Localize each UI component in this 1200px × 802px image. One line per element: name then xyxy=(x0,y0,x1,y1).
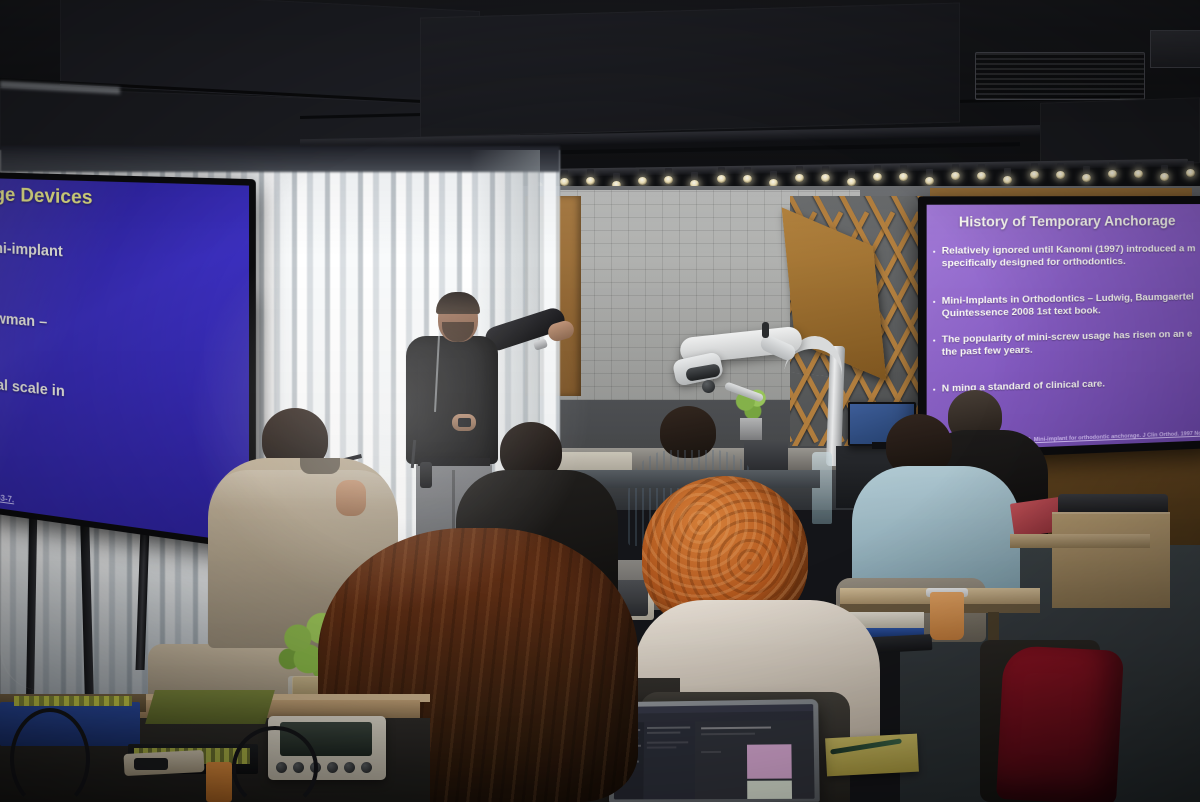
presenter-clicker[interactable] xyxy=(458,418,471,427)
spotlight xyxy=(717,167,726,181)
spotlight xyxy=(847,170,856,184)
attendee-jacket-highlight xyxy=(208,470,398,510)
spotlight xyxy=(899,165,908,179)
spotlight xyxy=(638,169,647,183)
spotlight xyxy=(743,167,752,181)
plant-pot xyxy=(740,418,762,440)
spotlight xyxy=(977,164,986,178)
back-bin xyxy=(744,440,788,470)
right-desk-upper xyxy=(1010,534,1150,548)
spotlight xyxy=(769,171,778,185)
laptop-message-list xyxy=(643,722,695,800)
laptop-reading-pane xyxy=(695,720,815,799)
suction-hose-loop xyxy=(10,708,90,802)
microscope-focus-knob[interactable] xyxy=(702,380,715,393)
wooden-cabinet xyxy=(1052,512,1170,608)
spotlight xyxy=(925,169,934,183)
spotlight xyxy=(612,173,621,187)
tv-screen: y Anchorage Devices 7) introduced a mini… xyxy=(0,178,249,543)
slide-bullet: wig, Baumgaertel, Bowman – xyxy=(0,301,47,333)
spotlight xyxy=(560,170,569,184)
laptop-screen[interactable] xyxy=(614,704,815,799)
laptop-attachment-pink xyxy=(747,744,792,779)
bottle xyxy=(206,762,232,802)
handpiece[interactable] xyxy=(134,758,168,770)
typodont-teeth-row xyxy=(14,696,132,706)
spotlight xyxy=(1082,166,1091,180)
spotlight xyxy=(586,169,595,183)
spotlight xyxy=(1186,161,1195,175)
lecture-room-photo: History of Temporary Anchorage Relativel… xyxy=(0,0,1200,802)
slide-bullet: 7) introduced a mini-implant xyxy=(0,235,63,262)
spotlight xyxy=(664,168,673,182)
attendee-collar xyxy=(300,458,340,474)
attendee-hand xyxy=(336,480,366,516)
control-knob[interactable] xyxy=(361,762,372,773)
green-work-mat xyxy=(145,690,275,724)
spotlight xyxy=(951,164,960,178)
slide-title: y Anchorage Devices xyxy=(0,182,242,216)
presenter-torso xyxy=(406,336,498,464)
spotlight xyxy=(1056,163,1065,177)
spotlight xyxy=(1030,163,1039,177)
laptop-attachment-light xyxy=(747,781,792,800)
notepad xyxy=(825,734,919,777)
presenter-mic-transmitter xyxy=(420,462,432,488)
control-knob[interactable] xyxy=(344,762,355,773)
slide-citation: age, J Clin Orthod. 1997 Nov;31(11):763-… xyxy=(0,475,14,504)
red-jacket xyxy=(996,645,1124,802)
spotlight xyxy=(1108,162,1117,176)
spotlight xyxy=(1160,165,1169,179)
attendee-light-blue-shirt-body xyxy=(852,466,1020,596)
microscope-post xyxy=(762,322,769,338)
screen-glare xyxy=(0,178,249,543)
laptop[interactable] xyxy=(609,699,820,802)
laptop-lid xyxy=(609,699,820,802)
spotlight xyxy=(690,172,699,186)
spotlight xyxy=(795,166,804,180)
spotlight xyxy=(821,166,830,180)
coffee-cup xyxy=(930,592,964,640)
control-knob[interactable] xyxy=(327,762,338,773)
slide-bullet: has risen on an exponential scale in xyxy=(0,362,65,402)
spotlight xyxy=(1003,168,1012,182)
spotlight xyxy=(1134,162,1143,176)
suction-hose-loop xyxy=(232,726,318,802)
water-bottle xyxy=(812,452,832,524)
spotlight xyxy=(873,165,882,179)
